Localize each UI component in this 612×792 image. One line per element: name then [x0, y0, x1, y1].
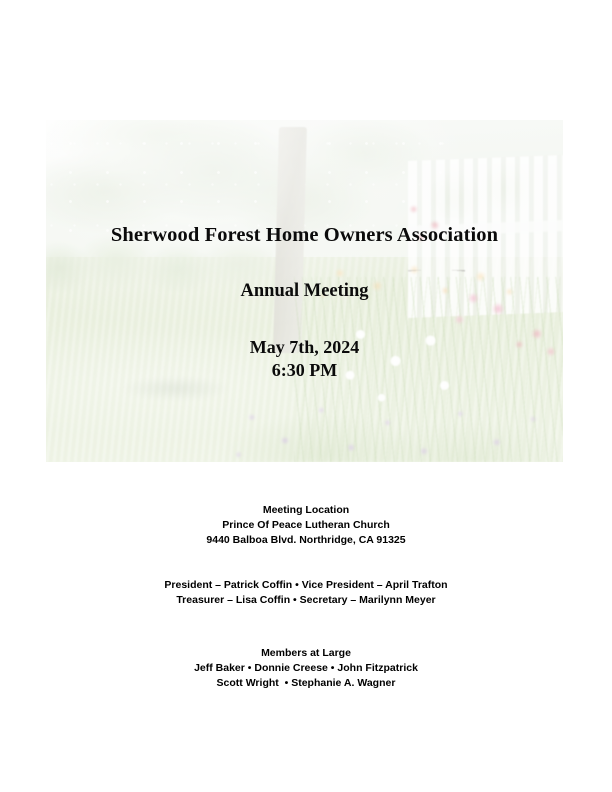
- members-heading: Members at Large: [0, 646, 612, 661]
- hero-photo: Sherwood Forest Home Owners Association …: [46, 120, 563, 462]
- adirondack-chairs: [93, 288, 331, 425]
- location-venue: Prince Of Peace Lutheran Church: [0, 518, 612, 533]
- chair-shadow: [102, 372, 249, 405]
- members-line-2: Scott Wright • Stephanie A. Wagner: [0, 676, 612, 691]
- location-heading: Meeting Location: [0, 503, 612, 518]
- officers-line-1: President – Patrick Coffin • Vice Presid…: [0, 578, 612, 593]
- shrub-row: [46, 233, 273, 291]
- members-line-1: Jeff Baker • Donnie Creese • John Fitzpa…: [0, 661, 612, 676]
- garden-scene-illustration: [46, 120, 563, 462]
- meeting-location-block: Meeting Location Prince Of Peace Luthera…: [0, 503, 612, 548]
- location-address: 9440 Balboa Blvd. Northridge, CA 91325: [0, 533, 612, 548]
- officers-line-2: Treasurer – Lisa Coffin • Secretary – Ma…: [0, 593, 612, 608]
- officers-block: President – Patrick Coffin • Vice Presid…: [0, 578, 612, 608]
- members-at-large-block: Members at Large Jeff Baker • Donnie Cre…: [0, 646, 612, 691]
